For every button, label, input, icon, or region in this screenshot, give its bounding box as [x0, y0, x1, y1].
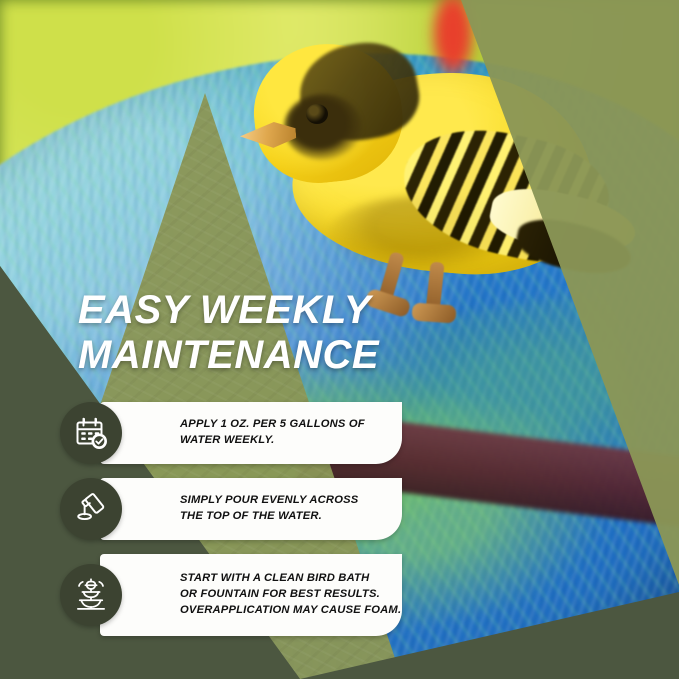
feature-list: APPLY 1 OZ. PER 5 GALLONS OF WATER WEEKL…: [60, 402, 400, 636]
fountain-icon: [60, 564, 122, 626]
list-item: APPLY 1 OZ. PER 5 GALLONS OF WATER WEEKL…: [60, 402, 400, 464]
feature-text-line: THE TOP OF THE WATER.: [180, 509, 408, 525]
promo-graphic: EASY WEEKLY MAINTENANCE APPLY 1 OZ. PER …: [0, 0, 679, 679]
feature-card: SIMPLY POUR EVENLY ACROSS THE TOP OF THE…: [100, 478, 402, 540]
content-layer: EASY WEEKLY MAINTENANCE APPLY 1 OZ. PER …: [0, 0, 679, 679]
headline-line-1: EASY WEEKLY: [78, 288, 498, 333]
feature-text-line: WATER WEEKLY.: [180, 433, 408, 449]
page-title: EASY WEEKLY MAINTENANCE: [78, 288, 498, 378]
feature-text-line: START WITH A CLEAN BIRD BATH: [180, 571, 408, 587]
list-item: START WITH A CLEAN BIRD BATH OR FOUNTAIN…: [60, 554, 400, 636]
feature-text-line: SIMPLY POUR EVENLY ACROSS: [180, 493, 408, 509]
pouring-bottle-icon: [60, 478, 122, 540]
feature-text-line: OVERAPPLICATION MAY CAUSE FOAM.: [180, 603, 408, 619]
feature-text: APPLY 1 OZ. PER 5 GALLONS OF WATER WEEKL…: [180, 417, 408, 449]
list-item: SIMPLY POUR EVENLY ACROSS THE TOP OF THE…: [60, 478, 400, 540]
calendar-check-icon: [60, 402, 122, 464]
feature-card: START WITH A CLEAN BIRD BATH OR FOUNTAIN…: [100, 554, 402, 636]
feature-text: SIMPLY POUR EVENLY ACROSS THE TOP OF THE…: [180, 493, 408, 525]
headline-line-2: MAINTENANCE: [78, 333, 498, 378]
feature-text-line: APPLY 1 OZ. PER 5 GALLONS OF: [180, 417, 408, 433]
feature-text-line: OR FOUNTAIN FOR BEST RESULTS.: [180, 587, 408, 603]
feature-text: START WITH A CLEAN BIRD BATH OR FOUNTAIN…: [180, 571, 408, 619]
feature-card: APPLY 1 OZ. PER 5 GALLONS OF WATER WEEKL…: [100, 402, 402, 464]
